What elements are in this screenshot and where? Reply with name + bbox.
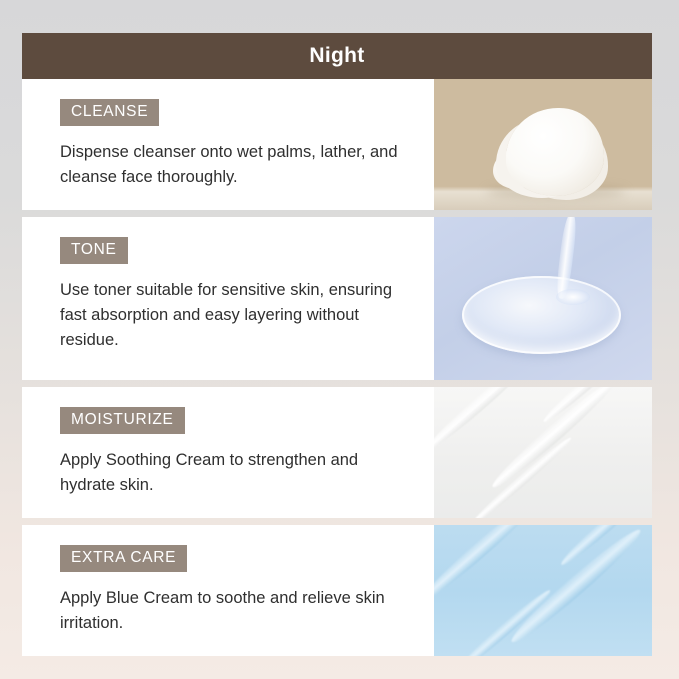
routine-steps-list: CLEANSE Dispense cleanser onto wet palms… xyxy=(22,79,652,664)
foam-blob xyxy=(506,108,604,196)
step-description: Dispense cleanser onto wet palms, lather… xyxy=(60,140,410,190)
step-text-block: TONE Use toner suitable for sensitive sk… xyxy=(22,217,434,380)
toner-droplet-photo xyxy=(434,217,652,380)
step-badge: EXTRA CARE xyxy=(60,545,187,572)
white-cream-texture-photo xyxy=(434,387,652,518)
step-text-block: EXTRA CARE Apply Blue Cream to soothe an… xyxy=(22,525,434,656)
blue-cream-texture-photo xyxy=(434,525,652,656)
cream-streak xyxy=(469,434,574,518)
cream-streak xyxy=(434,387,538,456)
cleanser-foam-photo xyxy=(434,79,652,210)
routine-step-row: EXTRA CARE Apply Blue Cream to soothe an… xyxy=(22,525,652,656)
step-text-block: CLEANSE Dispense cleanser onto wet palms… xyxy=(22,79,434,210)
toner-splash xyxy=(556,289,590,305)
step-description: Apply Blue Cream to soothe and relieve s… xyxy=(60,586,410,636)
routine-step-row: CLEANSE Dispense cleanser onto wet palms… xyxy=(22,79,652,210)
routine-header-title: Night xyxy=(22,33,652,79)
step-badge: MOISTURIZE xyxy=(60,407,185,434)
step-description: Apply Soothing Cream to strengthen and h… xyxy=(60,448,410,498)
routine-step-row: TONE Use toner suitable for sensitive sk… xyxy=(22,217,652,380)
toner-pool-rim xyxy=(462,276,621,354)
cream-streak xyxy=(488,387,620,493)
night-routine-card: Night CLEANSE Dispense cleanser onto wet… xyxy=(22,33,652,664)
step-badge: TONE xyxy=(60,237,128,264)
cream-streak xyxy=(434,525,542,607)
step-text-block: MOISTURIZE Apply Soothing Cream to stren… xyxy=(22,387,434,518)
cream-streak xyxy=(506,525,646,649)
step-description: Use toner suitable for sensitive skin, e… xyxy=(60,278,410,353)
routine-step-row: MOISTURIZE Apply Soothing Cream to stren… xyxy=(22,387,652,518)
step-badge: CLEANSE xyxy=(60,99,159,126)
